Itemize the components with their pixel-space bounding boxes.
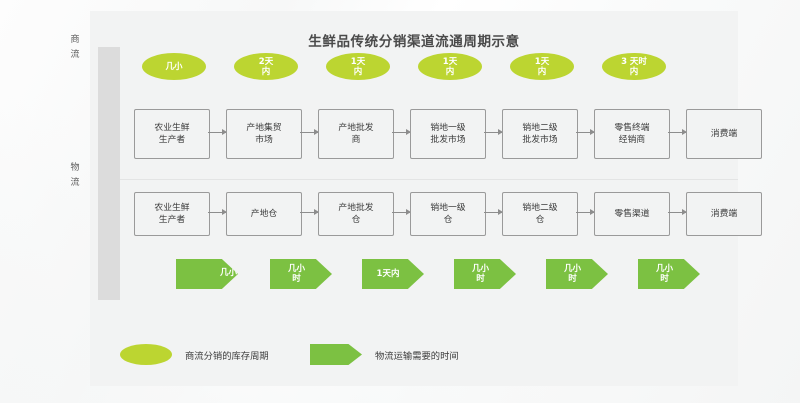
logistics-node-6[interactable]: 零售渠道: [594, 192, 670, 236]
commercial-node-3[interactable]: 产地批发 商: [318, 109, 394, 159]
commercial-node-label-6: 零售终端 经销商: [614, 122, 649, 146]
commercial-connector-3: [392, 132, 410, 133]
legend-item-inventory-cycle: 商流分销的库存周期: [120, 344, 269, 365]
logistics-node-label-5: 销地二级 仓: [522, 202, 557, 226]
transit-time-row: 几小 时 几小 时 1天内 几小 时 几小 时 几小 时: [134, 259, 738, 301]
inventory-cycle-badge-6: 3 天时 内: [602, 53, 666, 80]
swimlane-label-logistics-char-2: 流: [64, 176, 86, 191]
logistics-node-1[interactable]: 农业生鲜 生产者: [134, 192, 210, 236]
transit-time-label-6: 几小 时: [656, 264, 673, 284]
logistics-connector-2: [300, 212, 318, 213]
inventory-cycle-label-3: 1天 内: [351, 57, 365, 77]
transit-time-label-5: 几小 时: [564, 264, 581, 284]
logistics-connector-1: [208, 212, 226, 213]
inventory-cycle-badge-1: 几小: [142, 53, 206, 80]
swimlane-separator: [120, 179, 738, 180]
logistics-connector-4: [484, 212, 502, 213]
commercial-connector-5: [576, 132, 594, 133]
commercial-node-5[interactable]: 销地二级 批发市场: [502, 109, 578, 159]
commercial-node-2[interactable]: 产地集贸 市场: [226, 109, 302, 159]
inventory-cycle-label-1: 几小: [165, 62, 182, 72]
logistics-node-4[interactable]: 销地一级 仓: [410, 192, 486, 236]
inventory-cycle-badge-4: 1天 内: [418, 53, 482, 80]
transit-time-label-3: 1天内: [377, 269, 400, 279]
inventory-cycle-badge-5: 1天 内: [510, 53, 574, 80]
logistics-node-label-1: 农业生鲜 生产者: [154, 202, 189, 226]
transit-time-label-2: 几小 时: [288, 264, 305, 284]
logistics-connector-6: [668, 212, 686, 213]
swimlane-label-commercial-char-1: 商: [64, 33, 86, 48]
commercial-node-4[interactable]: 销地一级 批发市场: [410, 109, 486, 159]
commercial-node-label-2: 产地集贸 市场: [246, 122, 281, 146]
commercial-node-6[interactable]: 零售终端 经销商: [594, 109, 670, 159]
inventory-cycle-row: 几小 2天 内 1天 内 1天 内 1天 内 3 天时 内: [134, 53, 738, 91]
transit-time-badge-2: 几小 时: [270, 259, 332, 289]
swimlane-label-logistics-char-1: 物: [64, 161, 86, 176]
logistics-node-label-6: 零售渠道: [614, 208, 649, 220]
inventory-cycle-label-2: 2天 内: [259, 57, 273, 77]
swimlane-rail: [98, 47, 120, 300]
transit-time-badge-3: 1天内: [362, 259, 424, 289]
commercial-node-7[interactable]: 消费端: [686, 109, 762, 159]
commercial-node-label-7: 消费端: [711, 128, 737, 140]
commercial-node-label-1: 农业生鲜 生产者: [154, 122, 189, 146]
inventory-cycle-label-6: 3 天时 内: [621, 57, 647, 77]
logistics-node-label-2: 产地仓: [251, 208, 277, 220]
commercial-node-label-5: 销地二级 批发市场: [522, 122, 557, 146]
logistics-node-5[interactable]: 销地二级 仓: [502, 192, 578, 236]
legend-ellipse-swatch-icon: [120, 344, 172, 365]
swimlane-label-logistics: 物 流: [64, 161, 86, 191]
transit-time-badge-4: 几小 时: [454, 259, 516, 289]
logistics-node-label-3: 产地批发 仓: [338, 202, 373, 226]
logistics-flow-row: 农业生鲜 生产者 产地仓 产地批发 仓 销地一级 仓 销地二级 仓 零售渠道 消…: [134, 192, 738, 242]
inventory-cycle-badge-3: 1天 内: [326, 53, 390, 80]
transit-time-badge-6: 几小 时: [638, 259, 700, 289]
swimlane-label-commercial-char-2: 流: [64, 48, 86, 63]
transit-time-label-1: 几小 时: [220, 268, 248, 278]
logistics-node-3[interactable]: 产地批发 仓: [318, 192, 394, 236]
legend-chevron-swatch-icon: [310, 344, 362, 365]
commercial-node-label-3: 产地批发 商: [338, 122, 373, 146]
legend-label-inventory-cycle: 商流分销的库存周期: [185, 348, 269, 362]
inventory-cycle-label-5: 1天 内: [535, 57, 549, 77]
inventory-cycle-badge-2: 2天 内: [234, 53, 298, 80]
commercial-connector-6: [668, 132, 686, 133]
swimlane-label-commercial: 商 流: [64, 33, 86, 63]
logistics-node-2[interactable]: 产地仓: [226, 192, 302, 236]
logistics-connector-5: [576, 212, 594, 213]
commercial-node-label-4: 销地一级 批发市场: [430, 122, 465, 146]
logistics-node-7[interactable]: 消费端: [686, 192, 762, 236]
commercial-connector-4: [484, 132, 502, 133]
commercial-connector-1: [208, 132, 226, 133]
transit-time-badge-5: 几小 时: [546, 259, 608, 289]
transit-time-badge-1: 几小 时: [176, 259, 238, 289]
commercial-connector-2: [300, 132, 318, 133]
slide-card: 生鲜品传统分销渠道流通周期示意 商 流 物 流 几小 2天 内 1天 内 1天 …: [90, 11, 738, 386]
logistics-connector-3: [392, 212, 410, 213]
page-title: 生鲜品传统分销渠道流通周期示意: [90, 30, 738, 50]
logistics-node-label-7: 消费端: [711, 208, 737, 220]
legend-label-transit-time: 物流运输需要的时间: [375, 348, 459, 362]
legend-item-transit-time: 物流运输需要的时间: [310, 344, 459, 365]
inventory-cycle-label-4: 1天 内: [443, 57, 457, 77]
commercial-node-1[interactable]: 农业生鲜 生产者: [134, 109, 210, 159]
legend: 商流分销的库存周期 物流运输需要的时间: [120, 344, 720, 370]
transit-time-label-4: 几小 时: [472, 264, 489, 284]
logistics-node-label-4: 销地一级 仓: [430, 202, 465, 226]
commercial-flow-row: 农业生鲜 生产者 产地集贸 市场 产地批发 商 销地一级 批发市场 销地二级 批…: [134, 109, 738, 164]
